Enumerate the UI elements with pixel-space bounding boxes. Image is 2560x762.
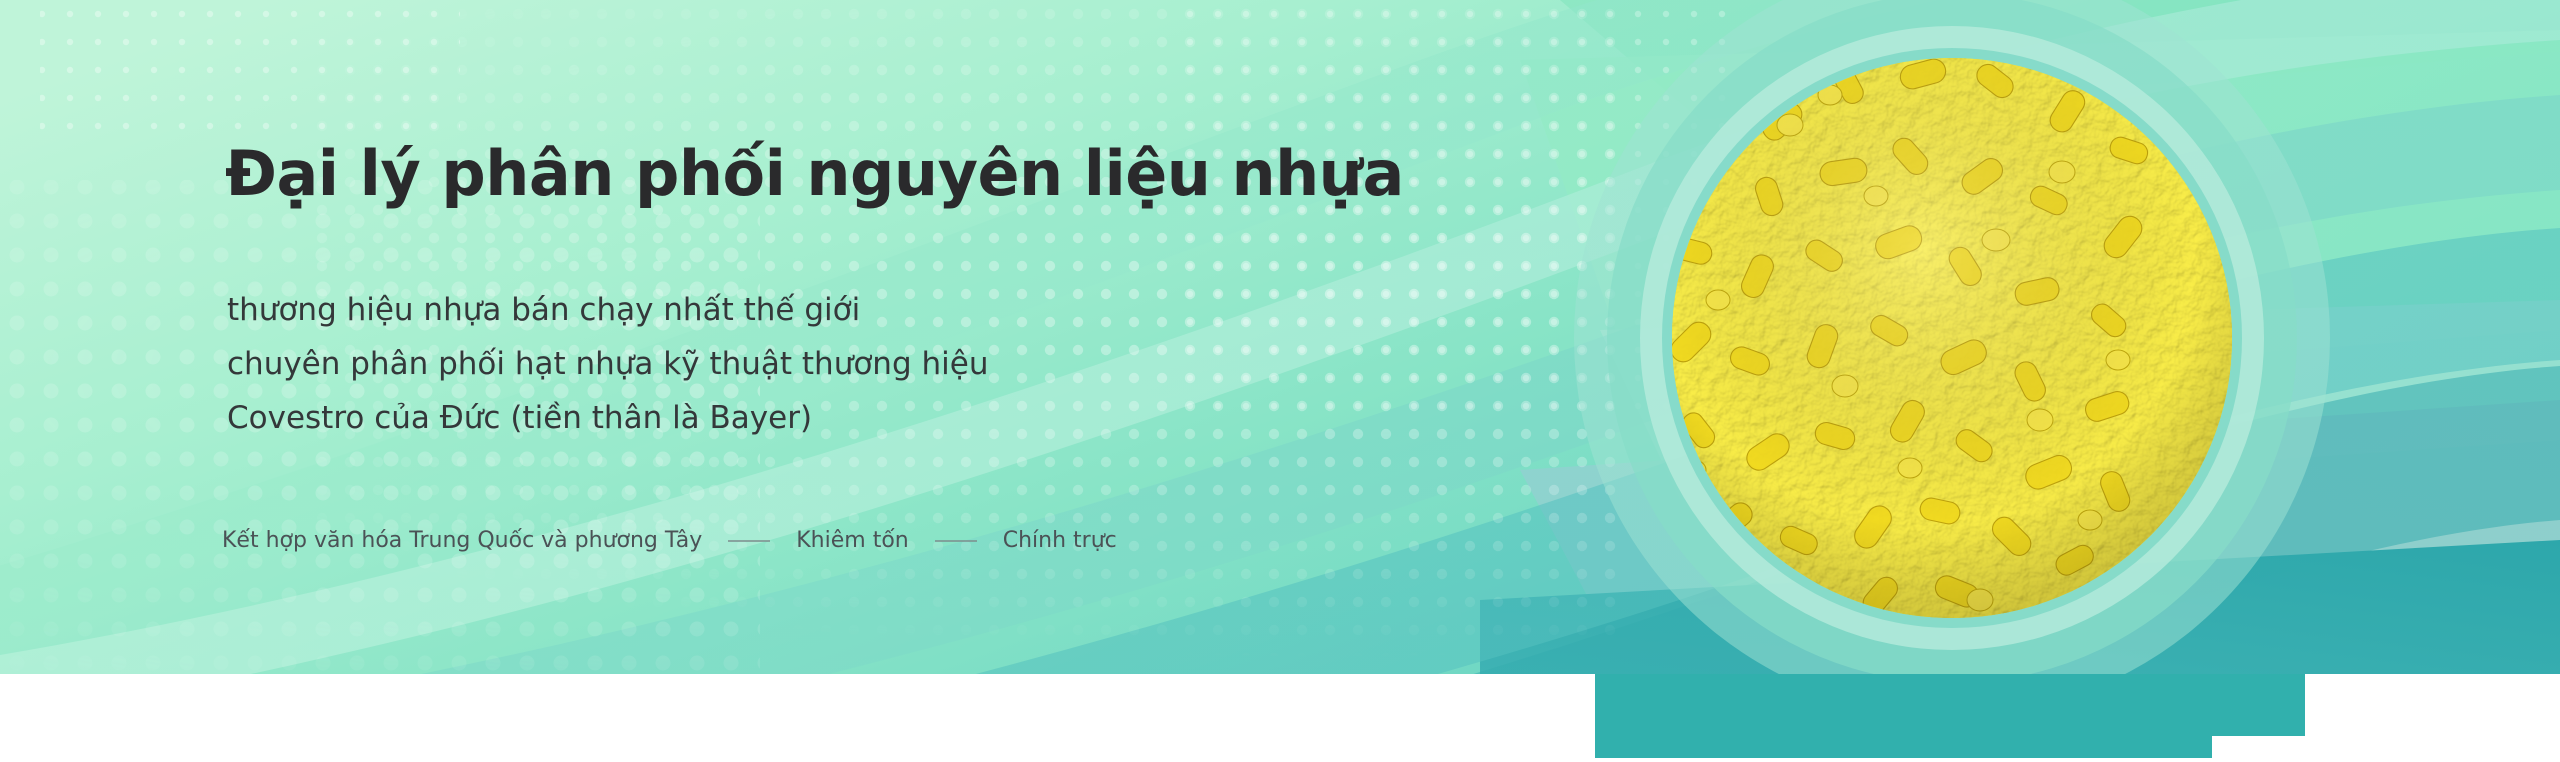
subtitle-block: thương hiệu nhựa bán chạy nhất thế giới … — [227, 283, 988, 445]
tagline-separator-icon — [728, 540, 770, 542]
banner-text-column: Đại lý phân phối nguyên liệu nhựa thương… — [0, 0, 1500, 674]
subtitle-line-2: chuyên phân phối hạt nhựa kỹ thuật thươn… — [227, 337, 988, 391]
tagline-item-1: Kết hợp văn hóa Trung Quốc và phương Tây — [222, 528, 702, 553]
tagline-separator-icon — [935, 540, 977, 542]
subtitle-line-3: Covestro của Đức (tiền thân là Bayer) — [227, 391, 988, 445]
page-title: Đại lý phân phối nguyên liệu nhựa — [225, 141, 1404, 206]
subtitle-line-1: thương hiệu nhựa bán chạy nhất thế giới — [227, 283, 988, 337]
tagline-item-3: Chính trực — [1003, 528, 1117, 553]
tagline-row: Kết hợp văn hóa Trung Quốc và phương Tây… — [222, 528, 1117, 553]
tagline-item-2: Khiêm tốn — [796, 528, 908, 553]
hero-banner: Đại lý phân phối nguyên liệu nhựa thương… — [0, 0, 2560, 762]
